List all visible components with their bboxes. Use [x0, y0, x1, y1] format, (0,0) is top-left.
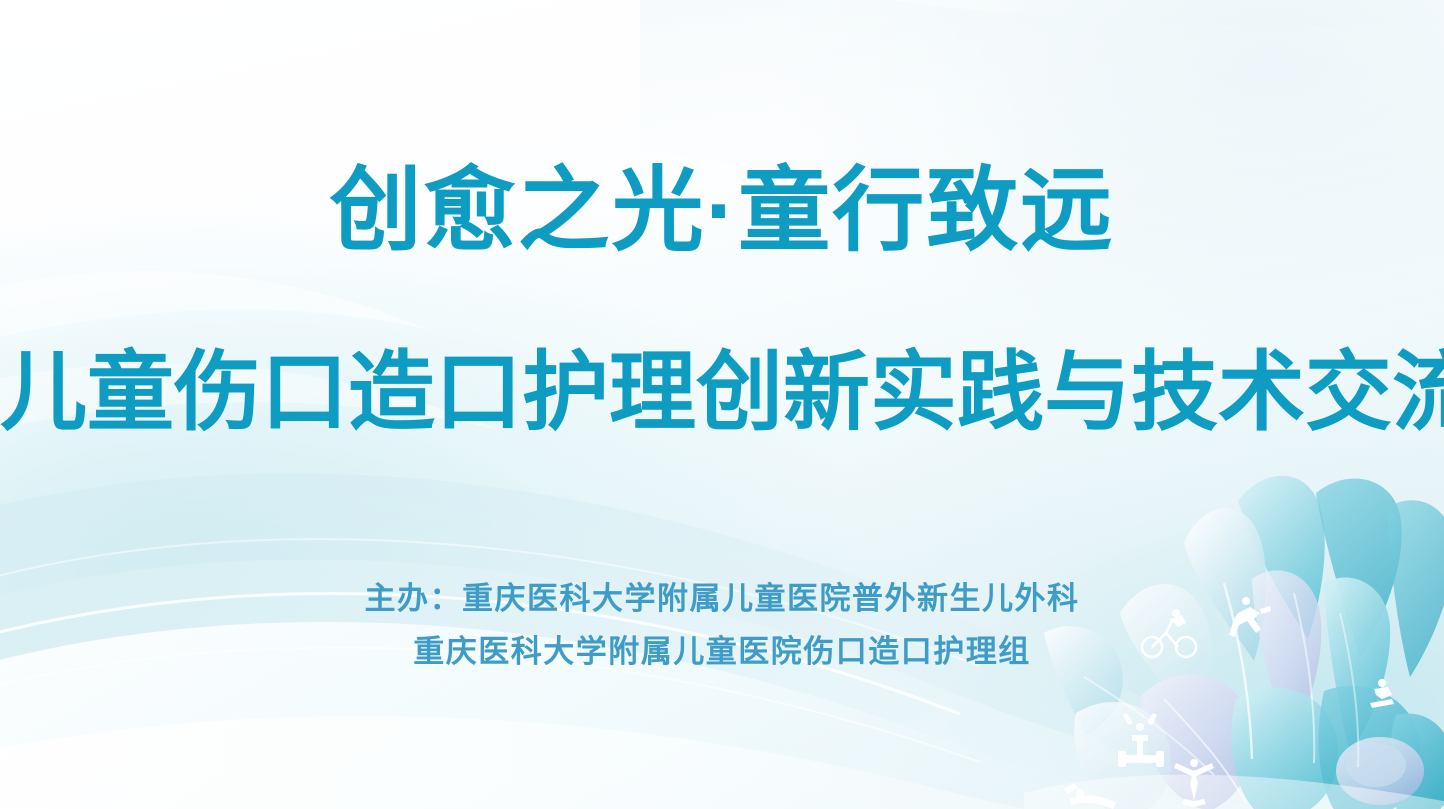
organizer-line-secondary: 重庆医科大学附属儿童医院伤口造口护理组 [0, 625, 1444, 678]
organizer-line-primary: 主办：重庆医科大学附属儿童医院普外新生儿外科 [0, 572, 1444, 625]
page-title: 创愈之光·童行致远 [0, 163, 1444, 260]
page-subtitle: 儿童伤口造口护理创新实践与技术交流会 [0, 347, 1444, 438]
slide-text-content: 创愈之光·童行致远 儿童伤口造口护理创新实践与技术交流会 主办：重庆医科大学附属… [0, 0, 1444, 809]
conference-title-slide: 创愈之光·童行致远 儿童伤口造口护理创新实践与技术交流会 主办：重庆医科大学附属… [0, 0, 1444, 809]
organizer-block: 主办：重庆医科大学附属儿童医院普外新生儿外科 重庆医科大学附属儿童医院伤口造口护… [0, 572, 1444, 679]
